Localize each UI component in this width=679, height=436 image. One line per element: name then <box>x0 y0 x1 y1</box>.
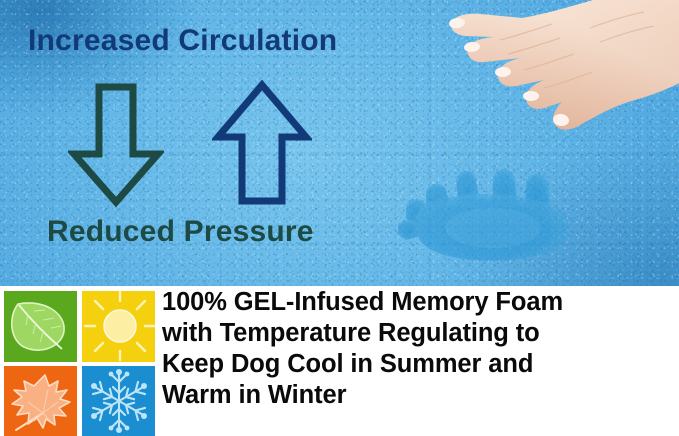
leaf-icon <box>4 291 77 362</box>
season-tile-summer <box>82 291 155 362</box>
four-season-icon-grid <box>4 291 156 436</box>
heading-increased-circulation: Increased Circulation <box>28 24 337 58</box>
season-tile-spring <box>4 291 77 362</box>
feature-line-2: with Temperature Regulating to <box>162 318 674 349</box>
feature-line-4: Warm in Winter <box>162 380 674 411</box>
snowflake-icon <box>82 366 155 436</box>
maple-leaf-icon <box>4 366 77 436</box>
product-feature-graphic: Increased Circulation Reduced Pressure <box>0 0 679 436</box>
gel-foam-photo-panel: Increased Circulation Reduced Pressure <box>0 0 679 286</box>
feature-line-1: 100% GEL-Infused Memory Foam <box>162 287 674 318</box>
down-arrow-icon <box>68 82 164 208</box>
up-arrow-icon <box>212 80 312 206</box>
sun-icon <box>82 291 155 362</box>
season-tile-autumn <box>4 366 77 436</box>
feature-line-3: Keep Dog Cool in Summer and <box>162 349 674 380</box>
hand-pressing-foam <box>404 0 679 197</box>
feature-description: 100% GEL-Infused Memory Foam with Temper… <box>162 287 674 411</box>
heading-reduced-pressure: Reduced Pressure <box>47 215 314 249</box>
season-tile-winter <box>82 366 155 436</box>
feature-info-bar: 100% GEL-Infused Memory Foam with Temper… <box>0 286 679 436</box>
